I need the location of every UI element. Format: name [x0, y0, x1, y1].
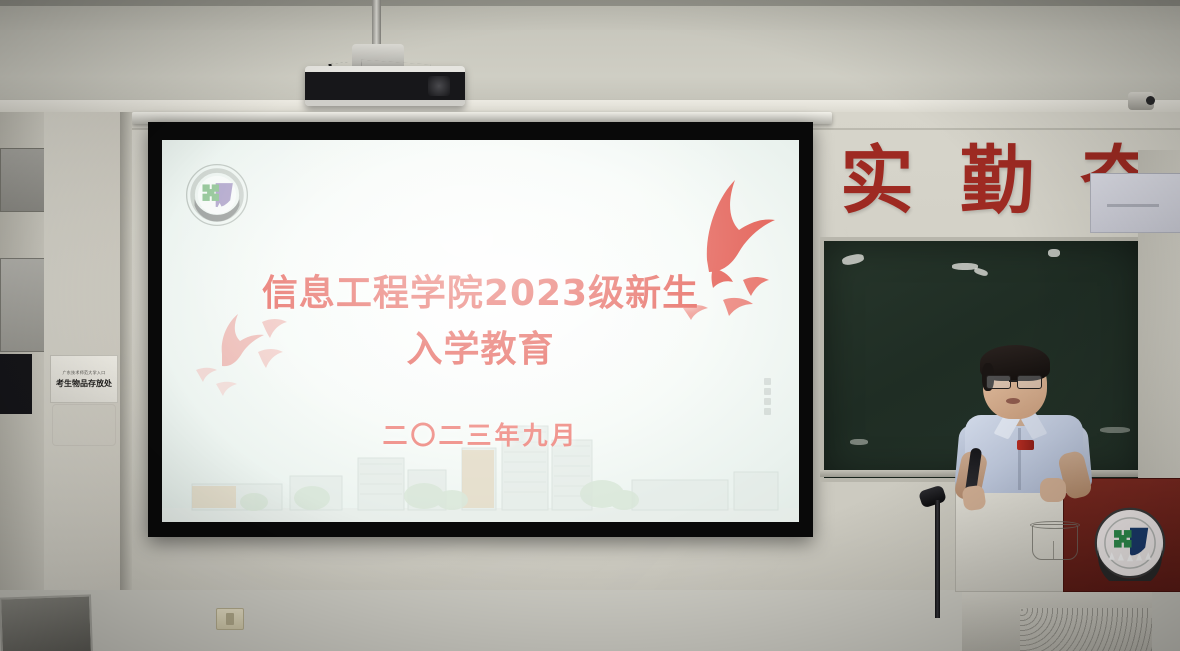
- sign-sketch: [52, 404, 116, 446]
- projection-screen: 信息工程学院2023级新生 入学教育 二〇二三年九月: [148, 122, 813, 537]
- university-emblem-icon: [1092, 505, 1168, 581]
- lecture-hall-photo: 信息工程学院2023级新生 入学教育 二〇二三年九月 实 勤 奋 广东技术师范大…: [0, 0, 1180, 651]
- storage-sign-subtitle: 广东技术师范大学入口: [63, 370, 106, 376]
- wall-motto-char-1: 实: [840, 144, 914, 218]
- leaning-board: [0, 594, 93, 651]
- slide-title-line1: 信息工程学院2023级新生: [262, 273, 699, 314]
- slide-title-line2: 入学教育: [162, 322, 799, 378]
- shirt-placket: [1018, 428, 1021, 490]
- storage-sign: 广东技术师范大学入口 考生物品存放处: [50, 355, 118, 403]
- presentation-slide: 信息工程学院2023级新生 入学教育 二〇二三年九月: [162, 140, 799, 522]
- wall-motto-char-2: 勤: [960, 144, 1034, 218]
- wall-equipment-box: [0, 354, 32, 414]
- speaker-mouth: [1006, 398, 1020, 404]
- wall-pillar: [44, 112, 120, 590]
- slide-date: 二〇二三年九月: [162, 416, 799, 452]
- projector-mount-rod: [372, 0, 381, 48]
- speaker-badge: [1017, 440, 1034, 450]
- school-emblem-icon: [184, 162, 250, 228]
- wall-notice-sheet: [1090, 173, 1180, 233]
- ceiling-shadow: [0, 0, 1180, 6]
- door-frame: [120, 112, 132, 590]
- upper-wall: [0, 30, 1180, 108]
- glasses-icon: [984, 375, 1044, 387]
- cup-outline-icon: [1032, 524, 1078, 560]
- camera-lens-icon: [1146, 96, 1155, 105]
- slide-title: 信息工程学院2023级新生 入学教育: [162, 266, 799, 378]
- wall-power-outlet: [216, 608, 244, 630]
- storage-sign-title: 考生物品存放处: [56, 378, 112, 389]
- speaker-hand-right: [1040, 478, 1066, 502]
- speaker-hand-left: [961, 485, 986, 512]
- microphone-stand: [935, 500, 940, 618]
- podium-vent: [1020, 608, 1152, 651]
- projector-lens: [428, 76, 450, 96]
